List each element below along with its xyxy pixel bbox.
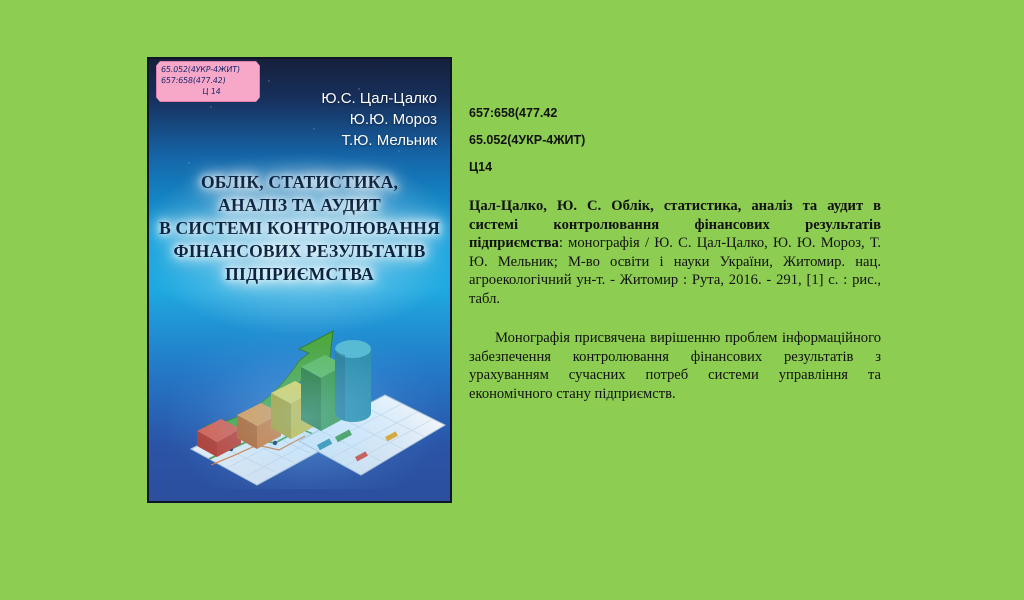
sticker-line-1: 65.052(4УКР-4ЖИТ) (160, 64, 256, 75)
cover-title-line-1: ОБЛІК, СТАТИСТИКА, (149, 171, 450, 194)
business-chart-artwork (149, 309, 450, 503)
abstract-paragraph: Монографія присвячена вирішенню проблем … (469, 329, 881, 403)
cover-title-line-4: ФІНАНСОВИХ РЕЗУЛЬТАТІВ (149, 240, 450, 263)
cover-title-line-2: АНАЛІЗ ТА АУДИТ (149, 194, 450, 217)
sticker-line-3: Ц 14 (160, 86, 256, 97)
cover-author-1: Ю.С. Цал-Цалко (321, 88, 437, 109)
call-number-3: Ц14 (469, 154, 881, 181)
cover-author-3: Т.Ю. Мельник (321, 130, 437, 151)
cover-title-line-5: ПІДПРИЄМСТВА (149, 263, 450, 286)
cover-authors: Ю.С. Цал-Цалко Ю.Ю. Мороз Т.Ю. Мельник (321, 88, 437, 151)
sticker-line-2: 657:658(477.42) (160, 75, 256, 86)
call-number-1: 657:658(477.42 (469, 100, 881, 127)
call-number-2: 65.052(4УКР-4ЖИТ) (469, 127, 881, 154)
citation-paragraph: Цал-Цалко, Ю. С. Облік, статистика, анал… (469, 197, 881, 308)
library-call-number-sticker: 65.052(4УКР-4ЖИТ) 657:658(477.42) Ц 14 (156, 61, 260, 102)
bibliographic-record: 657:658(477.42 65.052(4УКР-4ЖИТ) Ц14 Цал… (469, 100, 881, 403)
cover-author-2: Ю.Ю. Мороз (321, 109, 437, 130)
book-cover-image: 65.052(4УКР-4ЖИТ) 657:658(477.42) Ц 14 Ю… (147, 57, 452, 503)
cover-title: ОБЛІК, СТАТИСТИКА, АНАЛІЗ ТА АУДИТ В СИС… (149, 171, 450, 286)
artwork-glow-decoration (169, 329, 439, 489)
cover-title-line-3: В СИСТЕМІ КОНТРОЛЮВАННЯ (149, 217, 450, 240)
